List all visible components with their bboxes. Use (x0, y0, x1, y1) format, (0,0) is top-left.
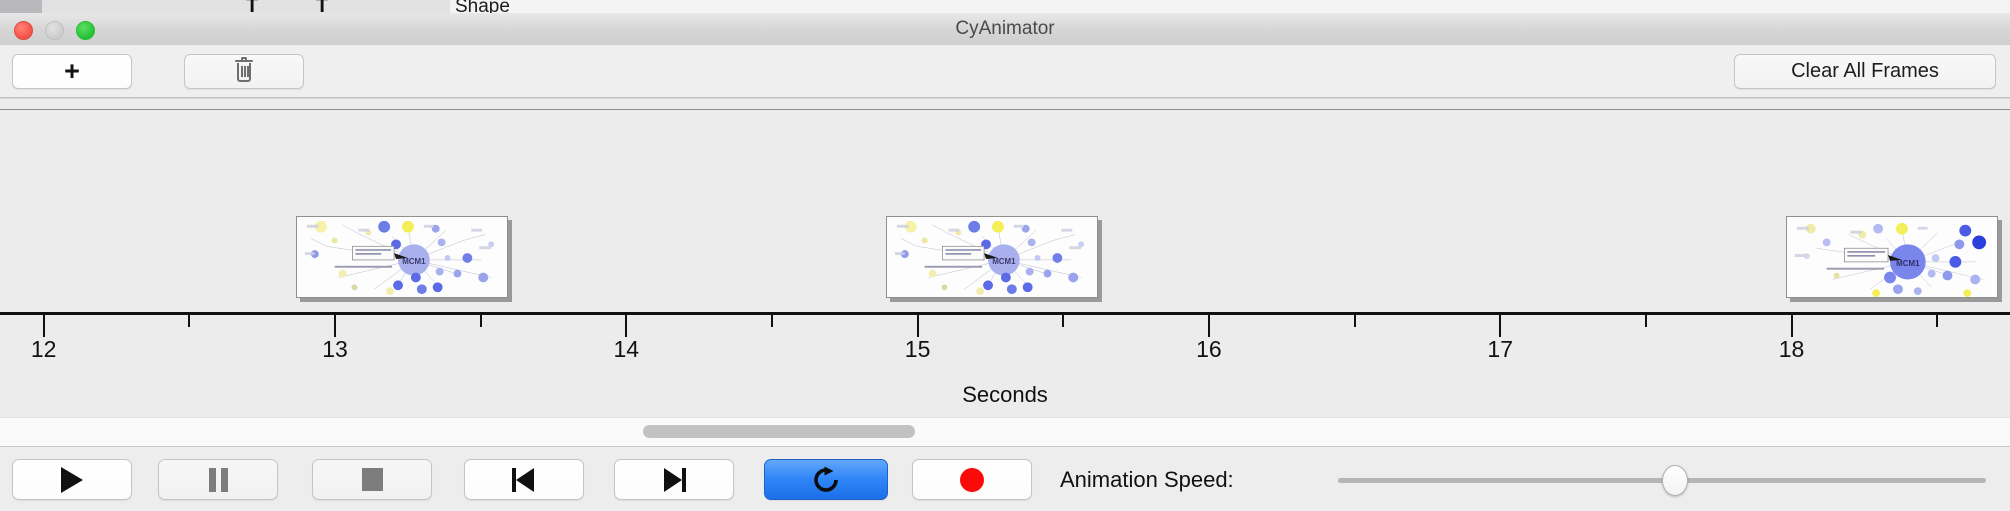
keyframe-thumbnail[interactable]: MCM1 (1786, 216, 1998, 298)
axis-tick-minor (188, 315, 190, 327)
axis-tick-minor (480, 315, 482, 327)
axis-tick-minor (1354, 315, 1356, 327)
keyframe-thumbnail[interactable]: MCM1 (296, 216, 508, 298)
axis-tick-major (334, 315, 336, 337)
background-window-strip: T T Shape (0, 0, 2010, 13)
axis-tick-minor (1936, 315, 1938, 327)
timeline-scrollbar[interactable] (0, 417, 2010, 447)
stop-button[interactable] (312, 459, 432, 500)
axis-tick-label: 13 (322, 336, 348, 363)
svg-text:MCM1: MCM1 (992, 257, 1016, 266)
axis-tick-label: 16 (1196, 336, 1222, 363)
play-button[interactable] (12, 459, 132, 500)
record-button[interactable] (912, 459, 1032, 500)
svg-text:MCM1: MCM1 (1896, 259, 1920, 268)
axis-tick-label: 17 (1487, 336, 1513, 363)
cyanimator-window: T T Shape CyAnimator + Clear All Frames (0, 0, 2010, 510)
loop-button[interactable] (764, 459, 888, 500)
stop-icon (362, 468, 383, 491)
timeline-top-divider (0, 109, 2010, 110)
svg-text:MCM1: MCM1 (402, 257, 426, 266)
background-window-label: Shape (455, 0, 510, 13)
clear-all-frames-button[interactable]: Clear All Frames (1734, 54, 1996, 89)
keyframe-thumbnail[interactable]: MCM1 (886, 216, 1098, 298)
axis-tick-label: 18 (1779, 336, 1805, 363)
network-graph-icon: MCM1 (297, 217, 507, 297)
record-icon (960, 468, 984, 492)
axis-tick-major (1208, 315, 1210, 337)
axis-tick-major (43, 315, 45, 337)
network-graph-icon: MCM1 (887, 217, 1097, 297)
axis-tick-label: 15 (905, 336, 931, 363)
previous-frame-button[interactable] (464, 459, 584, 500)
axis-tick-major (1499, 315, 1501, 337)
clear-all-frames-label: Clear All Frames (1791, 60, 1939, 83)
delete-frame-button[interactable] (184, 54, 304, 89)
animation-speed-label: Animation Speed: (1060, 459, 1234, 500)
axis-tick-minor (1645, 315, 1647, 327)
pause-icon (209, 468, 228, 492)
axis-tick-major (1791, 315, 1793, 337)
axis-tick-major (625, 315, 627, 337)
network-graph-icon: MCM1 (1787, 217, 1997, 297)
play-icon (61, 467, 83, 493)
next-frame-button[interactable] (614, 459, 734, 500)
trash-icon (235, 60, 253, 83)
loop-icon (811, 465, 841, 495)
skip-previous-icon (512, 468, 536, 492)
skip-next-icon (662, 468, 686, 492)
axis-tick-label: 12 (31, 336, 57, 363)
slider-thumb[interactable] (1662, 465, 1688, 496)
pause-button[interactable] (158, 459, 278, 500)
playback-control-bar: Animation Speed: (0, 446, 2010, 511)
toolbar: + Clear All Frames (0, 45, 2010, 98)
axis-title: Seconds (0, 382, 2010, 408)
axis-tick-minor (771, 315, 773, 327)
scrollbar-thumb[interactable] (643, 425, 915, 438)
axis-tick-label: 14 (614, 336, 640, 363)
axis-tick-minor (1062, 315, 1064, 327)
animation-speed-slider[interactable] (1338, 459, 1986, 500)
axis-tick-major (917, 315, 919, 337)
title-bar: CyAnimator (0, 13, 2010, 46)
timeline-axis (0, 312, 2010, 315)
window-title: CyAnimator (0, 13, 2010, 45)
timeline-panel[interactable]: MCM1 (0, 98, 2010, 411)
plus-icon: + (64, 58, 80, 85)
add-frame-button[interactable]: + (12, 54, 132, 89)
